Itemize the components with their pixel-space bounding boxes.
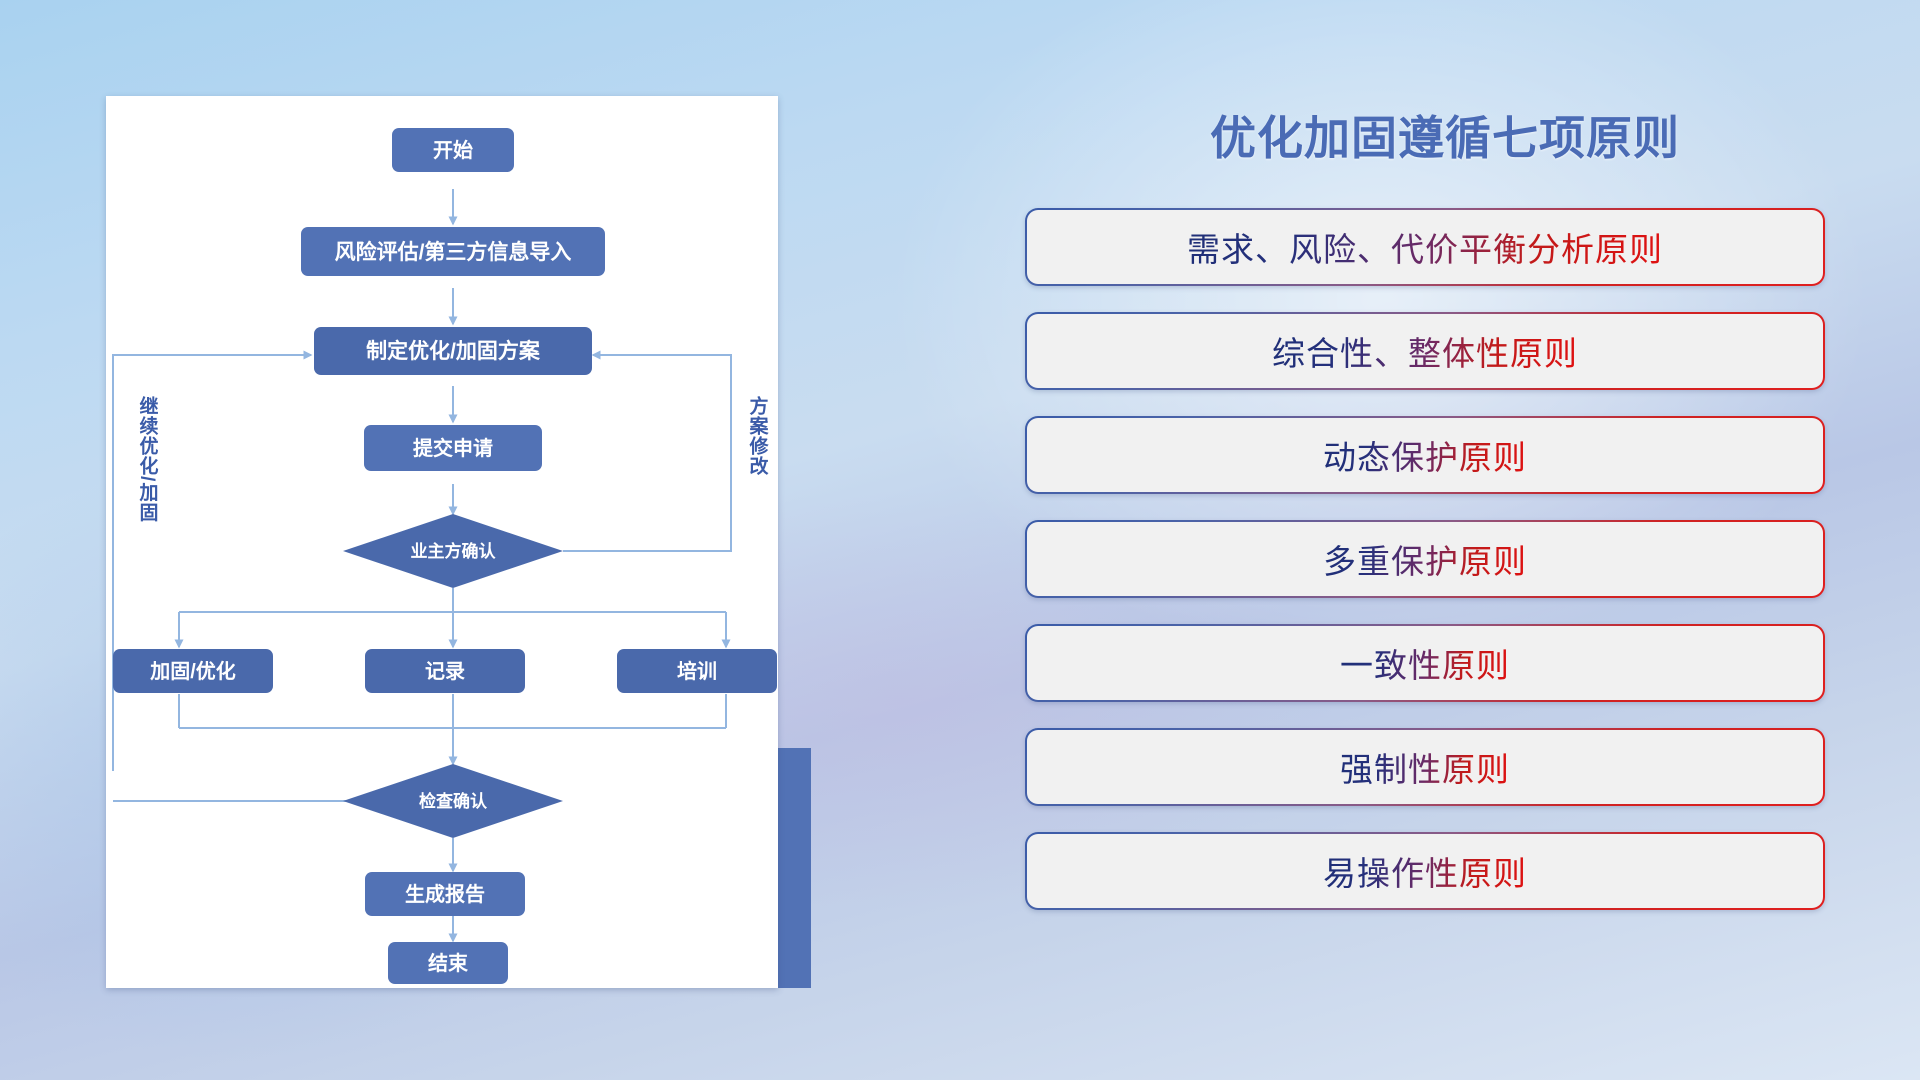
principle-item-3[interactable]: 动态保护原则 (1025, 416, 1825, 494)
edge-right-loop-plan-revision (563, 355, 731, 551)
principle-item-7-label: 易操作性原则 (1323, 847, 1527, 895)
node-owner-confirm-label: 业主方确认 (411, 541, 497, 561)
node-risk-assessment[interactable]: 风险评估/第三方信息导入 (301, 227, 605, 276)
principle-item-5[interactable]: 一致性原则 (1025, 624, 1825, 702)
node-check-confirm-label: 检查确认 (419, 791, 488, 811)
node-start[interactable]: 开始 (392, 128, 514, 172)
principle-item-6-inner: 强制性原则 (1027, 730, 1823, 804)
node-training[interactable]: 培训 (617, 649, 777, 693)
node-owner-confirm[interactable]: 业主方确认 (343, 514, 563, 588)
principle-item-1[interactable]: 需求、风险、代价平衡分析原则 (1025, 208, 1825, 286)
node-reinforce-label: 加固/优化 (149, 659, 236, 683)
node-plan[interactable]: 制定优化/加固方案 (314, 327, 592, 375)
principle-item-1-inner: 需求、风险、代价平衡分析原则 (1027, 210, 1823, 284)
flowchart-card: 开始 风险评估/第三方信息导入 制定优化/加固方案 提交申请 业主方确认 (106, 96, 778, 988)
principle-item-6-label: 强制性原则 (1340, 743, 1510, 791)
principle-item-6[interactable]: 强制性原则 (1025, 728, 1825, 806)
node-submit-label: 提交申请 (413, 436, 493, 460)
principle-item-2-inner: 综合性、整体性原则 (1027, 314, 1823, 388)
principle-item-2[interactable]: 综合性、整体性原则 (1025, 312, 1825, 390)
node-end[interactable]: 结束 (388, 942, 508, 984)
node-check-confirm[interactable]: 检查确认 (343, 764, 563, 838)
principle-item-7-inner: 易操作性原则 (1027, 834, 1823, 908)
node-record[interactable]: 记录 (365, 649, 525, 693)
principle-item-5-label: 一致性原则 (1340, 639, 1510, 687)
node-training-label: 培训 (677, 659, 717, 683)
node-record-label: 记录 (425, 660, 465, 683)
principle-item-3-label: 动态保护原则 (1323, 431, 1527, 479)
principle-list: 需求、风险、代价平衡分析原则 综合性、整体性原则 动态保护原则 多重保护原则 (1025, 208, 1825, 936)
node-reinforce[interactable]: 加固/优化 (113, 649, 273, 693)
slide-canvas: 开始 风险评估/第三方信息导入 制定优化/加固方案 提交申请 业主方确认 (0, 0, 1920, 1080)
principle-item-1-label: 需求、风险、代价平衡分析原则 (1187, 223, 1663, 271)
principles-panel: 优化加固遵循七项原则 需求、风险、代价平衡分析原则 综合性、整体性原则 动态保护… (1010, 86, 1880, 1016)
node-risk-assessment-label: 风险评估/第三方信息导入 (335, 240, 572, 264)
principle-item-4-label: 多重保护原则 (1323, 535, 1527, 583)
edge-label-plan-revision: 方案修改 (747, 395, 770, 476)
principle-item-5-inner: 一致性原则 (1027, 626, 1823, 700)
principle-item-2-label: 综合性、整体性原则 (1272, 327, 1578, 375)
flowchart-diagram: 开始 风险评估/第三方信息导入 制定优化/加固方案 提交申请 业主方确认 (106, 96, 778, 988)
edge-label-continue-optimize: 继续优化/加固 (137, 395, 160, 523)
node-end-label: 结束 (428, 951, 469, 975)
principle-item-7[interactable]: 易操作性原则 (1025, 832, 1825, 910)
node-generate-report-label: 生成报告 (405, 882, 485, 906)
node-start-label: 开始 (433, 138, 473, 162)
principle-item-4-inner: 多重保护原则 (1027, 522, 1823, 596)
node-plan-label: 制定优化/加固方案 (366, 339, 541, 363)
principle-item-4[interactable]: 多重保护原则 (1025, 520, 1825, 598)
principle-item-3-inner: 动态保护原则 (1027, 418, 1823, 492)
page-title: 优化加固遵循七项原则 (1010, 102, 1880, 168)
node-submit[interactable]: 提交申请 (364, 425, 542, 471)
node-generate-report[interactable]: 生成报告 (365, 872, 525, 916)
